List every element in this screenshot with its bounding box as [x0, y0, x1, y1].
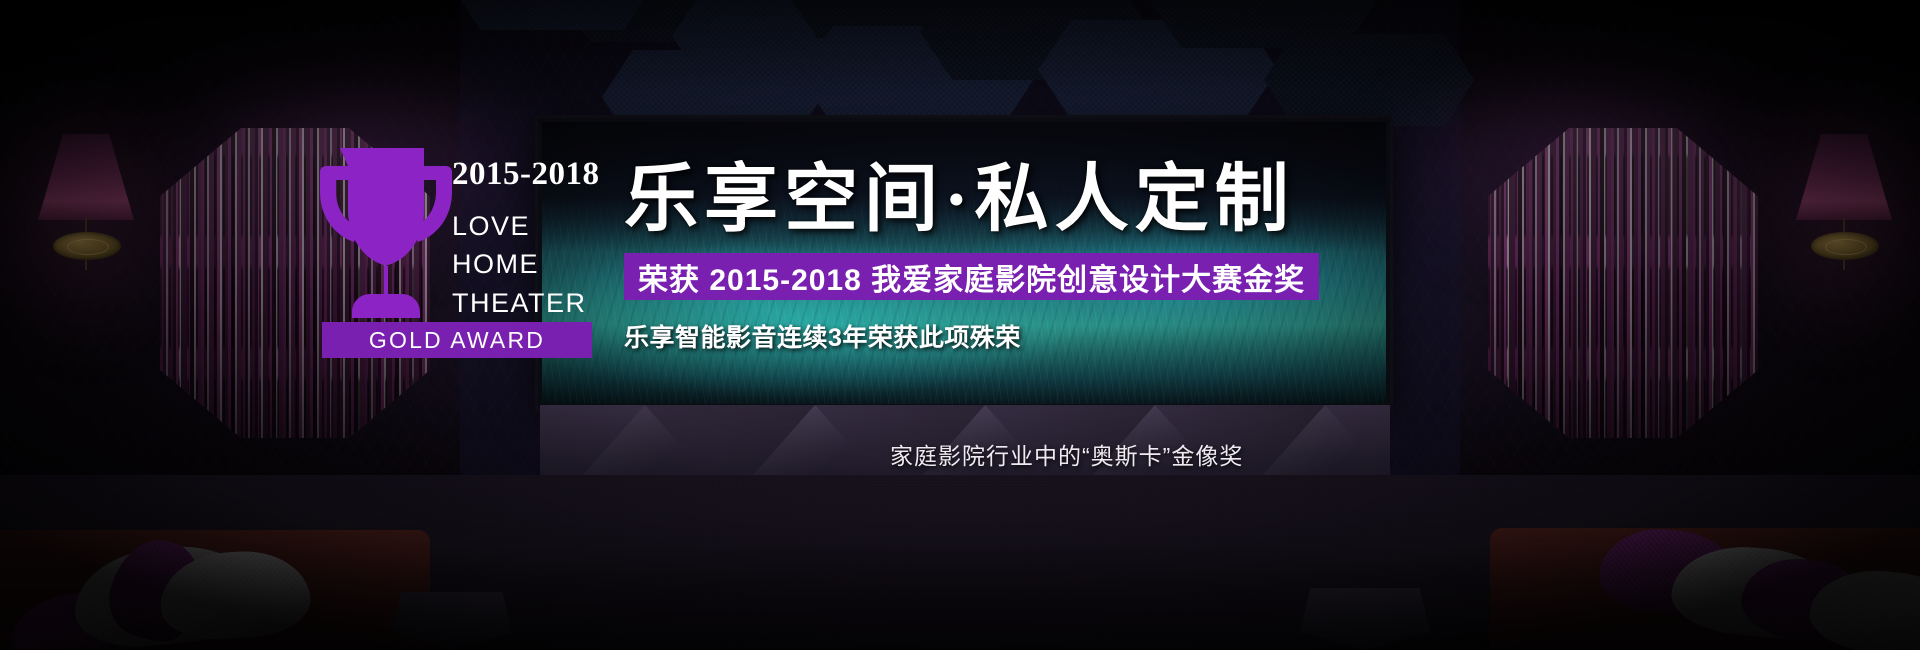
home-theater-award-banner: 2015-2018 LOVE HOME THEATER GOLD AWARD 乐…	[0, 0, 1920, 650]
banner-headline: 乐享空间·私人定制	[624, 163, 1295, 237]
award-line-love: LOVE	[452, 207, 617, 245]
gold-award-badge: GOLD AWARD	[322, 322, 592, 358]
banner-content: 2015-2018 LOVE HOME THEATER GOLD AWARD 乐…	[0, 0, 1920, 650]
banner-subline: 乐享智能影音连续3年荣获此项殊荣	[624, 318, 1021, 354]
award-line-theater: THEATER	[452, 284, 617, 322]
award-years: 2015-2018	[452, 158, 617, 191]
award-line-home: HOME	[452, 245, 617, 283]
award-highlight-bar: 荣获 2015-2018 我爱家庭影院创意设计大赛金奖	[624, 253, 1319, 300]
banner-footnote: 家庭影院行业中的“奥斯卡”金像奖	[890, 437, 1243, 471]
award-title-lines: LOVE HOME THEATER	[452, 207, 617, 322]
award-text-block: 2015-2018 LOVE HOME THEATER	[452, 158, 617, 322]
gold-award-label: GOLD AWARD	[369, 327, 545, 354]
award-highlight-text: 荣获 2015-2018 我爱家庭影院创意设计大赛金奖	[638, 255, 1305, 299]
trophy-icon	[312, 140, 452, 340]
